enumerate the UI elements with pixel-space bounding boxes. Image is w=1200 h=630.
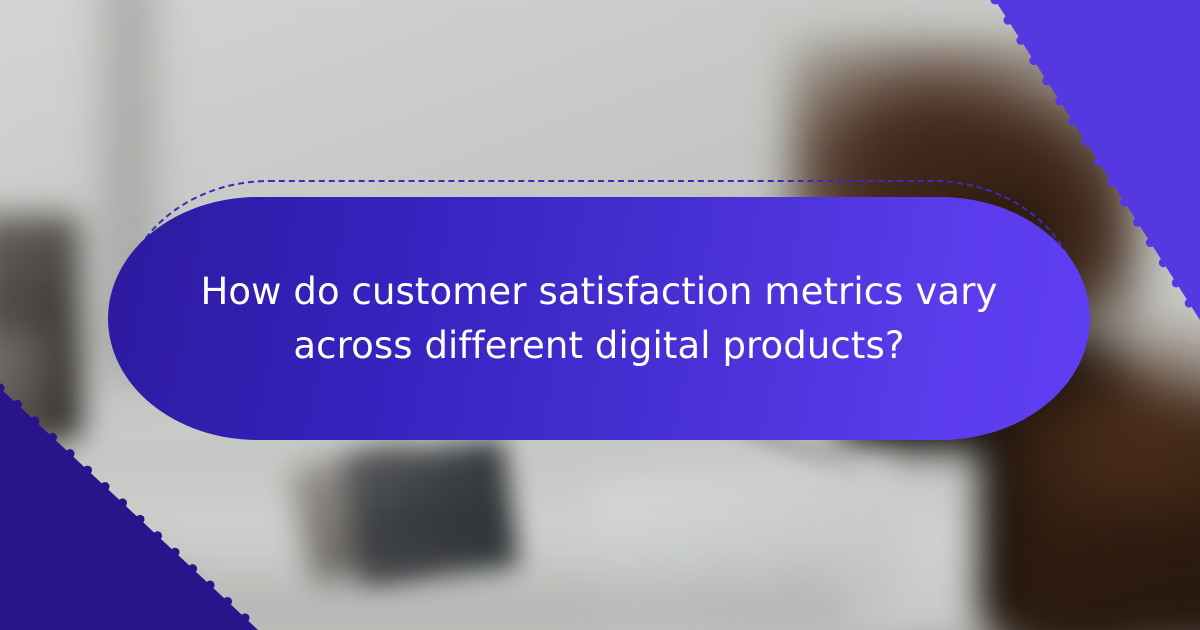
headline-text-block: How do customer satisfaction metrics var…: [108, 197, 1090, 440]
background-desk-shadow: [150, 545, 850, 630]
social-card-canvas: How do customer satisfaction metrics var…: [0, 0, 1200, 630]
headline-card: How do customer satisfaction metrics var…: [108, 180, 1092, 448]
headline-line-2: across different digital products?: [293, 323, 904, 369]
headline-card-fill: How do customer satisfaction metrics var…: [108, 197, 1090, 440]
headline-line-1: How do customer satisfaction metrics var…: [200, 269, 997, 315]
background-lower-left-shadow: [0, 520, 200, 630]
